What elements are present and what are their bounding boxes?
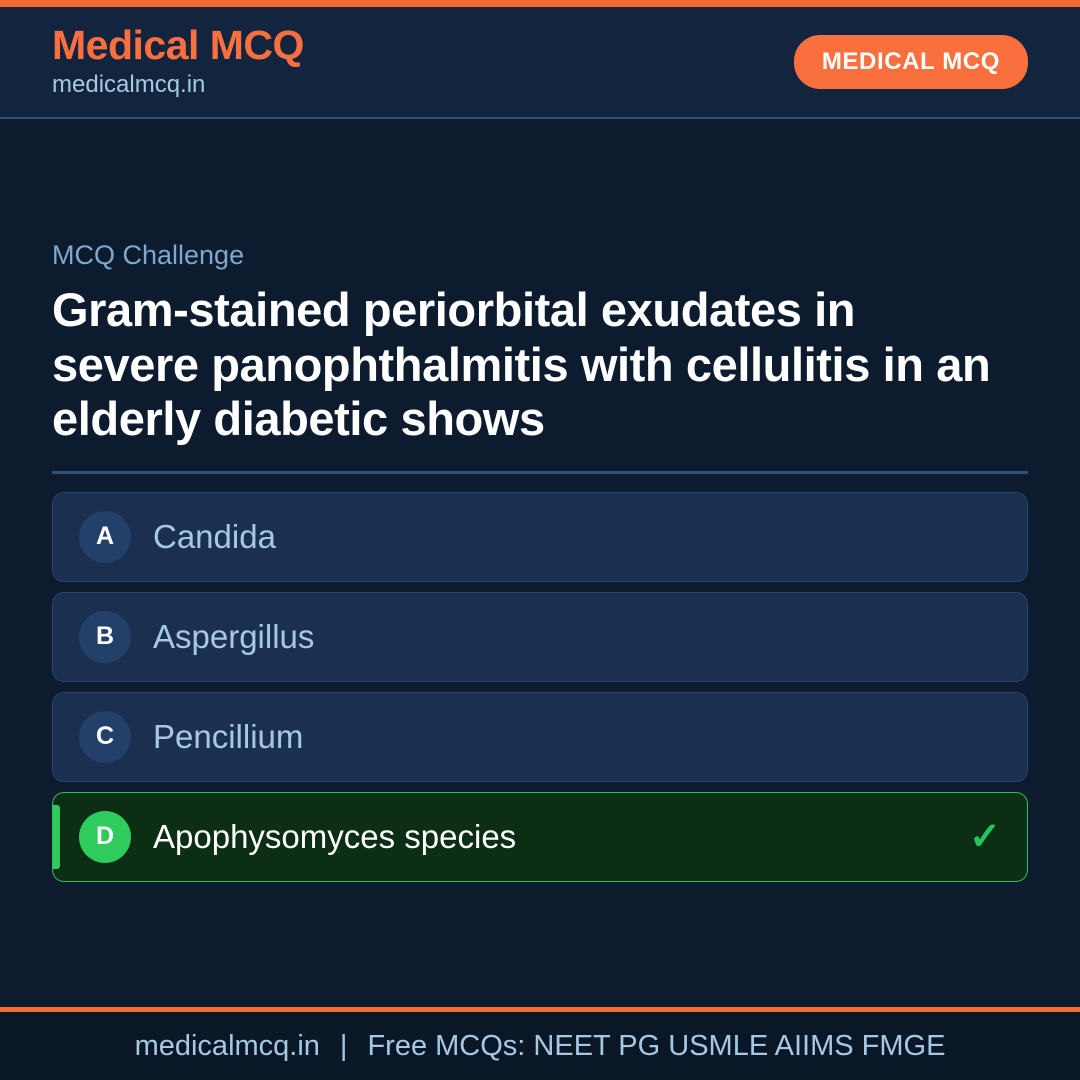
check-icon: ✓	[969, 818, 1001, 856]
brand-subtitle: medicalmcq.in	[52, 70, 304, 100]
options-list: A Candida ✓ B Aspergillus ✓ C Pencillium…	[52, 492, 1028, 882]
option-a[interactable]: A Candida ✓	[52, 492, 1028, 582]
question-text: Gram-stained periorbital exudates in sev…	[52, 283, 1012, 447]
header-badge: MEDICAL MCQ	[794, 35, 1028, 89]
option-letter-badge: D	[79, 811, 131, 863]
bottom-spacer	[52, 882, 1028, 1007]
mcq-card: Medical MCQ medicalmcq.in MEDICAL MCQ MC…	[0, 0, 1080, 1080]
header: Medical MCQ medicalmcq.in MEDICAL MCQ	[0, 7, 1080, 119]
brand-block: Medical MCQ medicalmcq.in	[52, 24, 304, 100]
option-label: Pencillium	[153, 717, 953, 757]
option-letter-badge: B	[79, 611, 131, 663]
top-accent-bar	[0, 0, 1080, 7]
option-b[interactable]: B Aspergillus ✓	[52, 592, 1028, 682]
option-label: Apophysomyces species	[153, 817, 953, 857]
footer-separator: |	[320, 1030, 368, 1063]
option-d[interactable]: D Apophysomyces species ✓	[52, 792, 1028, 882]
footer-links: Free MCQs: NEET PG USMLE AIIMS FMGE	[367, 1032, 945, 1061]
section-divider	[52, 471, 1028, 474]
option-label: Aspergillus	[153, 617, 953, 657]
option-label: Candida	[153, 517, 953, 557]
eyebrow-label: MCQ Challenge	[52, 239, 1028, 271]
footer: medicalmcq.in | Free MCQs: NEET PG USMLE…	[0, 1012, 1080, 1080]
main-content: MCQ Challenge Gram-stained periorbital e…	[0, 119, 1080, 1007]
footer-site: medicalmcq.in	[135, 1032, 320, 1061]
brand-title: Medical MCQ	[52, 24, 304, 67]
option-c[interactable]: C Pencillium ✓	[52, 692, 1028, 782]
option-letter-badge: C	[79, 711, 131, 763]
option-letter-badge: A	[79, 511, 131, 563]
correct-accent-bar	[53, 805, 60, 869]
